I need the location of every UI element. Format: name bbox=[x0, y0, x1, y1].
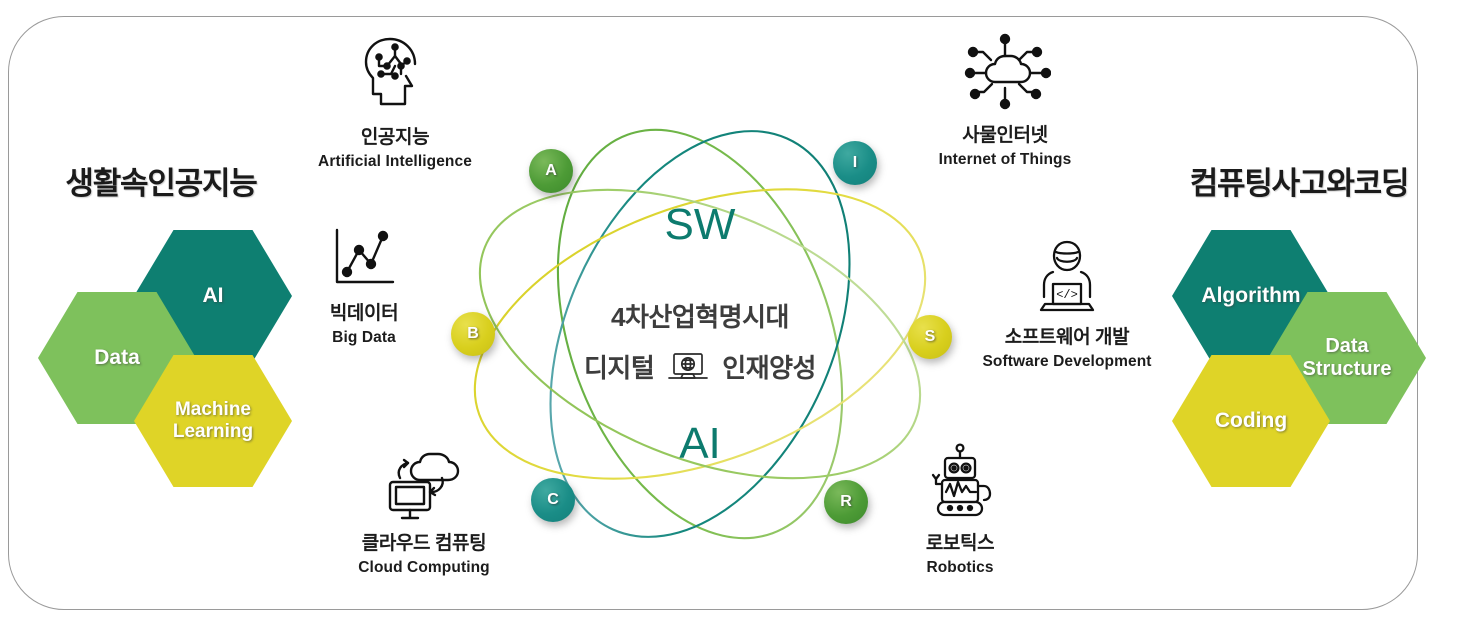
orbit-badge-b-label: B bbox=[467, 325, 479, 343]
brain-head-icon bbox=[290, 30, 500, 116]
hex-datastruct-label-line1: Data bbox=[1297, 335, 1398, 358]
orbit-badge-a-label: A bbox=[545, 162, 557, 180]
hex-algorithm-label: Algorithm bbox=[1195, 284, 1306, 308]
topic-cloud-label-en: Cloud Computing bbox=[316, 559, 532, 577]
laptop-globe-icon bbox=[666, 351, 710, 383]
orbit-yellow-1 bbox=[435, 133, 964, 534]
center-label-sw: SW bbox=[600, 200, 800, 250]
center-label-ai: AI bbox=[600, 419, 800, 469]
infographic-canvas: 생활속인공지능 AI Data Machine Learning 컴퓨팅사고와코… bbox=[0, 0, 1462, 627]
right-section-heading: 컴퓨팅사고와코딩 bbox=[1168, 158, 1430, 203]
orbit-badge-a[interactable]: A bbox=[529, 149, 573, 193]
orbit-badge-r[interactable]: R bbox=[824, 480, 868, 524]
cloud-network-icon bbox=[900, 30, 1110, 114]
center-headline-line2-before: 디지털 bbox=[584, 348, 654, 385]
atom-orbit-graphic bbox=[420, 108, 980, 560]
hex-datastruct-label-line2: Structure bbox=[1297, 358, 1398, 381]
topic-sw-label-en: Software Development bbox=[958, 353, 1176, 371]
orbit-badge-r-label: R bbox=[840, 493, 852, 511]
hex-ml-label-line2: Learning bbox=[167, 421, 259, 443]
left-section-heading: 생활속인공지능 bbox=[30, 158, 292, 203]
svg-text:</>: </> bbox=[1056, 288, 1078, 302]
hex-coding-label: Coding bbox=[1209, 409, 1293, 433]
orbit-badge-c[interactable]: C bbox=[531, 478, 575, 522]
orbit-badge-c-label: C bbox=[547, 491, 559, 509]
topic-sw-label-ko: 소프트웨어 개발 bbox=[958, 322, 1176, 349]
center-headline-line1: 4차산업혁명시대 bbox=[520, 297, 880, 334]
hex-ai-label: AI bbox=[197, 284, 230, 308]
center-headline-line2: 디지털 인재양성 bbox=[500, 348, 900, 385]
orbit-badge-i[interactable]: I bbox=[833, 141, 877, 185]
orbit-green-2 bbox=[438, 132, 961, 536]
center-headline-line2-after: 인재양성 bbox=[722, 348, 816, 385]
orbit-badge-s[interactable]: S bbox=[908, 315, 952, 359]
hex-ml-label-line1: Machine bbox=[167, 399, 259, 421]
topic-robot-label-en: Robotics bbox=[860, 559, 1060, 577]
orbit-badge-b[interactable]: B bbox=[451, 312, 495, 356]
hex-data-label: Data bbox=[88, 346, 146, 370]
developer-laptop-icon: </> bbox=[958, 238, 1176, 316]
orbit-badge-i-label: I bbox=[853, 154, 857, 172]
topic-software-development[interactable]: </> 소프트웨어 개발 Software Development bbox=[958, 238, 1176, 371]
orbit-badge-s-label: S bbox=[925, 328, 936, 346]
